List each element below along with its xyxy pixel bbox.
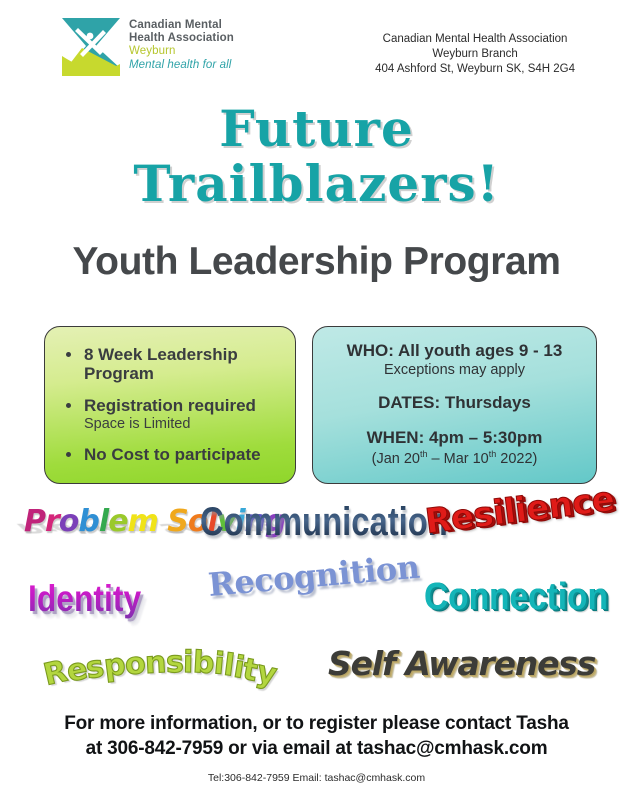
- skill-recognition: Recognition: [207, 548, 421, 604]
- logo-line-1: Canadian Mental: [129, 19, 234, 32]
- skill-resilience: Resilience: [423, 479, 616, 542]
- wordart-letter: o: [59, 504, 79, 539]
- wordart-letter: b: [192, 645, 215, 681]
- wordart-letter: b: [78, 504, 98, 539]
- when-label: WHEN: 4pm – 5:30pm: [323, 428, 586, 448]
- who-label: WHO: All youth ages 9 - 13: [323, 341, 586, 361]
- page-subtitle: Youth Leadership Program: [0, 240, 633, 284]
- dates-label: DATES: Thursdays: [323, 393, 586, 413]
- skills-wordart-group: Problem Solving Problem Solving Communic…: [0, 494, 633, 710]
- list-item: No Cost to participate: [65, 445, 285, 464]
- title-line-1: Future: [219, 99, 414, 158]
- skill-connection: Connection: [424, 576, 608, 619]
- wordart-letter: n: [144, 645, 167, 681]
- poster-root: Canadian Mental Health Association Weybu…: [0, 0, 633, 800]
- address-line-1: Canadian Mental Health Association: [375, 32, 575, 47]
- range-close: 2022): [496, 451, 537, 467]
- list-item-main: Registration required: [84, 396, 256, 415]
- organization-logo: Canadian Mental Health Association Weybu…: [62, 18, 234, 76]
- footer-line-1: For more information, or to register ple…: [0, 712, 633, 737]
- wordart-letter: [158, 504, 167, 539]
- logo-wordmark: Canadian Mental Health Association Weybu…: [129, 18, 234, 72]
- poster-header: Canadian Mental Health Association Weybu…: [0, 18, 633, 98]
- range-sup-1: th: [420, 449, 428, 459]
- list-item-main: No Cost to participate: [84, 445, 261, 464]
- who-note: Exceptions may apply: [323, 362, 586, 378]
- schedule-box: WHO: All youth ages 9 - 13 Exceptions ma…: [312, 326, 597, 484]
- address-line-2: Weyburn Branch: [375, 47, 575, 62]
- info-boxes: 8 Week Leadership Program Registration r…: [44, 326, 597, 484]
- range-open: (Jan 20: [372, 451, 420, 467]
- poster-title: Future Trailblazers!: [0, 104, 633, 208]
- list-item: 8 Week Leadership Program: [65, 345, 285, 383]
- footer-line-2: at 306-842-7959 or via email at tashac@c…: [0, 737, 633, 762]
- contact-footer: For more information, or to register ple…: [0, 712, 633, 761]
- title-block: Future Trailblazers!: [0, 104, 633, 208]
- skill-responsibility: Responsibility: [44, 650, 276, 685]
- list-item-sub: Space is Limited: [84, 416, 285, 432]
- list-item-main: 8 Week Leadership Program: [84, 345, 238, 383]
- spacer: [323, 413, 586, 428]
- program-details-box: 8 Week Leadership Program Registration r…: [44, 326, 296, 484]
- footer-small-print: Tel:306-842-7959 Email: tashac@cmhask.co…: [0, 772, 633, 784]
- skill-communication: Communication: [200, 500, 448, 545]
- wordart-letter: l: [99, 504, 108, 539]
- organization-address: Canadian Mental Health Association Weybu…: [375, 18, 575, 78]
- wordart-letter: o: [123, 646, 146, 683]
- wordart-letter: s: [165, 645, 183, 680]
- when-date-range: (Jan 20th – Mar 10th 2022): [323, 449, 586, 467]
- wordart-letter: m: [128, 504, 158, 539]
- program-details-list: 8 Week Leadership Program Registration r…: [65, 345, 285, 464]
- wordart-letter: e: [108, 504, 127, 539]
- wordart-letter: S: [167, 504, 188, 539]
- skill-identity: Identity: [28, 578, 141, 620]
- list-item: Registration required Space is Limited: [65, 396, 285, 432]
- logo-branch: Weyburn: [129, 45, 234, 58]
- wordart-letter: r: [45, 504, 59, 539]
- logo-tagline: Mental health for all: [129, 59, 234, 72]
- title-line-2: Trailblazers!: [0, 159, 633, 208]
- cmha-logo-icon: [62, 18, 120, 76]
- skill-self-awareness: Self Awareness: [328, 644, 595, 683]
- range-mid: – Mar 10: [428, 451, 489, 467]
- wordart-letter: P: [24, 504, 45, 539]
- spacer: [323, 378, 586, 393]
- logo-line-2: Health Association: [129, 32, 234, 45]
- address-line-3: 404 Ashford St, Weyburn SK, S4H 2G4: [375, 62, 575, 77]
